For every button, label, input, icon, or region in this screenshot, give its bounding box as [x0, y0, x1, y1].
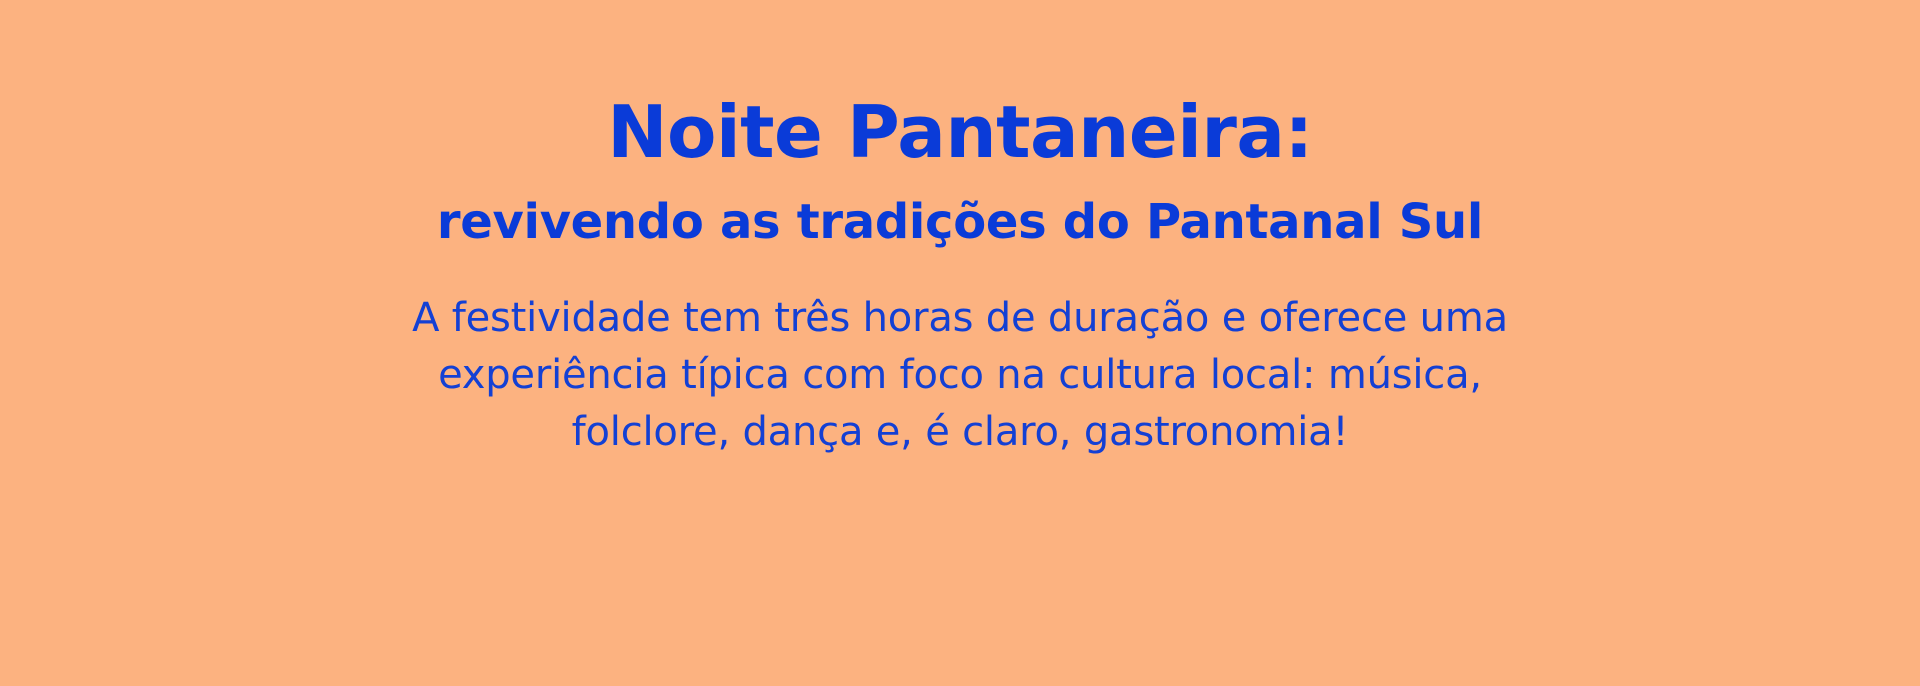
description-line-1: A festividade tem três horas de duração … [360, 290, 1560, 347]
promo-banner: Noite Pantaneira: revivendo as tradições… [0, 0, 1920, 686]
description-line-2: experiência típica com foco na cultura l… [360, 347, 1560, 404]
description-paragraph: A festividade tem três horas de duração … [360, 290, 1560, 460]
headline-block: Noite Pantaneira: revivendo as tradições… [0, 96, 1920, 246]
page-subtitle: revivendo as tradições do Pantanal Sul [0, 198, 1920, 246]
description-line-3: folclore, dança e, é claro, gastronomia! [360, 404, 1560, 461]
page-title: Noite Pantaneira: [0, 96, 1920, 168]
